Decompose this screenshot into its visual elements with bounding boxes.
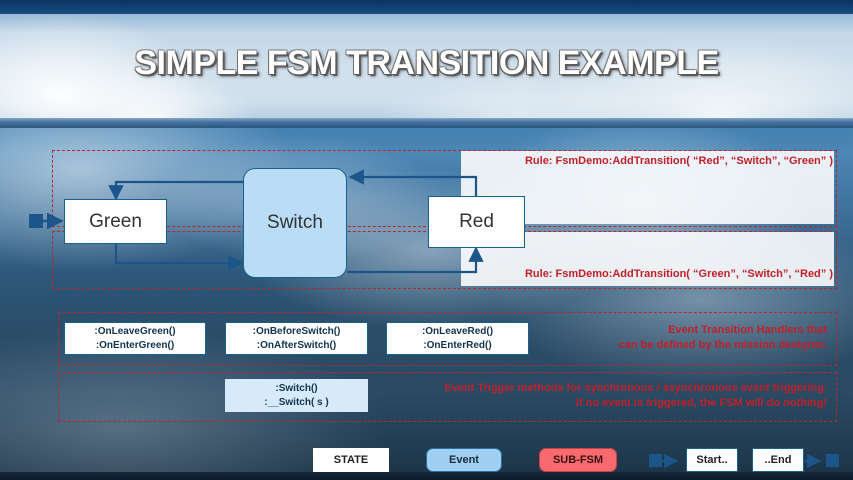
legend: STATE Event SUB-FSM Start.. ..End bbox=[0, 448, 853, 474]
triggers-note-line1: Event Trigger methods for synchronous / … bbox=[380, 381, 827, 396]
wire-switch-to-green bbox=[116, 182, 245, 199]
legend-start-arrow-icon bbox=[662, 454, 684, 468]
handlers-note: Event Transition Handlers that can be de… bbox=[533, 323, 827, 353]
handler-green-line2: :OnEnterGreen() bbox=[96, 339, 174, 353]
legend-item-event[interactable]: Event bbox=[426, 448, 502, 472]
state-node-red[interactable]: Red bbox=[428, 196, 525, 248]
state-label-green: Green bbox=[89, 211, 142, 233]
handler-box-switch[interactable]: :OnBeforeSwitch() :OnAfterSwitch() bbox=[225, 322, 368, 355]
wire-switch-to-red bbox=[347, 248, 476, 272]
triggers-note: Event Trigger methods for synchronous / … bbox=[380, 381, 827, 411]
handler-red-line2: :OnEnterRed() bbox=[423, 339, 491, 353]
event-label-switch: Switch bbox=[267, 212, 323, 234]
start-arrow bbox=[29, 214, 62, 228]
state-node-green[interactable]: Green bbox=[64, 199, 167, 244]
legend-end-square-icon bbox=[826, 454, 839, 467]
wire-red-to-switch bbox=[350, 177, 476, 196]
legend-label-state: STATE bbox=[334, 454, 368, 466]
handler-switch-line1: :OnBeforeSwitch() bbox=[253, 325, 341, 339]
legend-label-start: Start.. bbox=[696, 454, 727, 466]
trigger-switch-line2: :__Switch( s ) bbox=[264, 396, 328, 410]
slide-canvas: SIMPLE FSM TRANSITION EXAMPLE Rule: FsmD… bbox=[0, 0, 853, 480]
handler-switch-line2: :OnAfterSwitch() bbox=[257, 339, 336, 353]
legend-end-arrow-icon bbox=[805, 454, 827, 468]
legend-start-square-icon bbox=[649, 454, 662, 467]
triggers-note-line2: If no event is triggered, the FSM will d… bbox=[380, 396, 827, 411]
handlers-note-line1: Event Transition Handlers that bbox=[533, 323, 827, 338]
trigger-box-switch[interactable]: :Switch() :__Switch( s ) bbox=[225, 379, 368, 412]
event-node-switch[interactable]: Switch bbox=[243, 168, 347, 278]
handlers-note-line2: can be defined by the mission designer. bbox=[533, 338, 827, 353]
legend-label-end: ..End bbox=[765, 454, 792, 466]
wire-green-to-switch bbox=[116, 243, 242, 263]
handler-green-line1: :OnLeaveGreen() bbox=[94, 325, 175, 339]
state-label-red: Red bbox=[459, 211, 494, 233]
legend-label-subfsm: SUB-FSM bbox=[553, 454, 603, 466]
legend-item-end[interactable]: ..End bbox=[752, 448, 804, 472]
handler-box-green[interactable]: :OnLeaveGreen() :OnEnterGreen() bbox=[64, 322, 206, 355]
handler-red-line1: :OnLeaveRed() bbox=[422, 325, 493, 339]
legend-label-event: Event bbox=[449, 454, 479, 466]
handler-box-red[interactable]: :OnLeaveRed() :OnEnterRed() bbox=[386, 322, 529, 355]
legend-item-start[interactable]: Start.. bbox=[686, 448, 738, 472]
trigger-switch-line1: :Switch() bbox=[275, 382, 317, 396]
legend-item-state[interactable]: STATE bbox=[313, 448, 389, 472]
legend-item-subfsm[interactable]: SUB-FSM bbox=[539, 448, 617, 472]
